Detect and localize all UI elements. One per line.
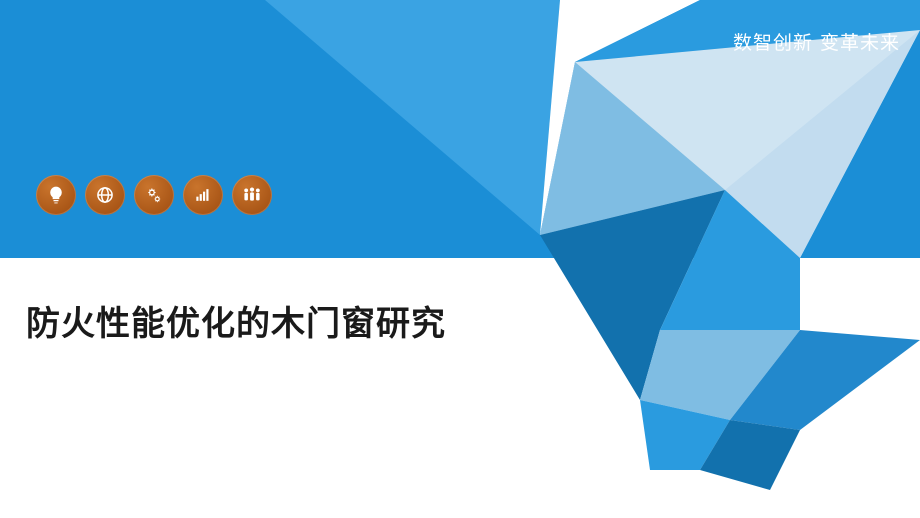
bar-chart-icon	[183, 175, 223, 215]
background-artwork	[0, 0, 920, 518]
presentation-slide: 数智创新 变革未来	[0, 0, 920, 518]
people-icon	[232, 175, 272, 215]
page-title: 防火性能优化的木门窗研究	[26, 296, 446, 345]
slide-tagline: 数智创新 变革未来	[733, 28, 900, 55]
gears-icon	[134, 175, 174, 215]
lightbulb-icon	[36, 175, 76, 215]
icon-row	[36, 175, 272, 215]
globe-icon	[85, 175, 125, 215]
